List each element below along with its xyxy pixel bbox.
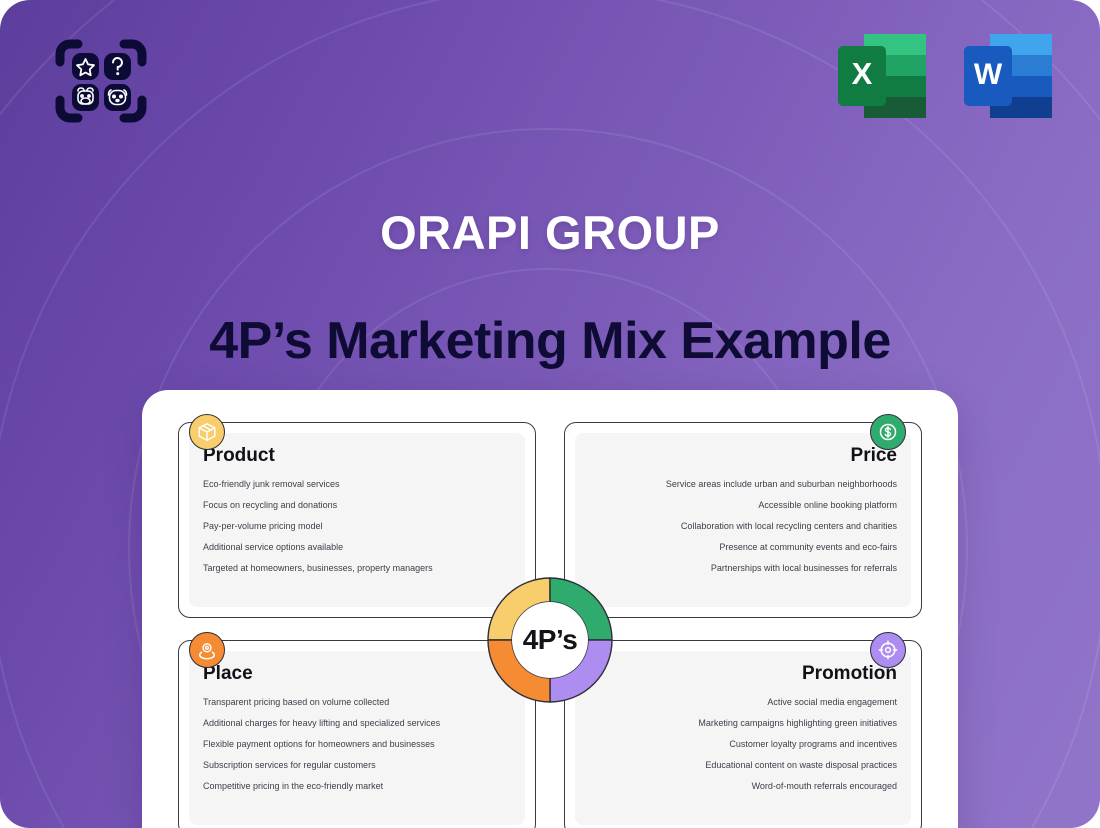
donut-chart: 4P’s xyxy=(472,562,628,718)
list-item: Active social media engagement xyxy=(589,698,897,707)
list-item: Additional charges for heavy lifting and… xyxy=(203,719,511,728)
list-item: Additional service options available xyxy=(203,543,511,552)
quadrant-place-title: Place xyxy=(203,663,511,685)
dollar-coin-icon[interactable] xyxy=(870,414,906,450)
quadrant-promotion-title: Promotion xyxy=(589,663,897,685)
list-item: Targeted at homeowners, businesses, prop… xyxy=(203,564,511,573)
brand-title: ORAPI GROUP xyxy=(0,205,1100,260)
list-item: Focus on recycling and donations xyxy=(203,501,511,510)
list-item: Subscription services for regular custom… xyxy=(203,761,511,770)
svg-text:W: W xyxy=(974,58,1003,91)
excel-icon[interactable]: X xyxy=(832,28,932,124)
quadrant-place-list: Transparent pricing based on volume coll… xyxy=(203,698,511,791)
quadrant-promotion-list: Active social media engagement Marketing… xyxy=(589,698,897,791)
list-item: Flexible payment options for homeowners … xyxy=(203,740,511,749)
office-icons: X W xyxy=(832,28,1058,124)
quadrant-product-list: Eco-friendly junk removal services Focus… xyxy=(203,480,511,573)
word-icon[interactable]: W xyxy=(958,28,1058,124)
list-item: Collaboration with local recycling cente… xyxy=(589,522,897,531)
slide-canvas: X W ORAPI GROUP 4P’s Marketing Mix Examp… xyxy=(0,0,1100,828)
quadrant-price-title: Price xyxy=(589,445,897,467)
list-item: Presence at community events and eco-fai… xyxy=(589,543,897,552)
list-item: Accessible online booking platform xyxy=(589,501,897,510)
package-box-icon[interactable] xyxy=(189,414,225,450)
list-item: Service areas include urban and suburban… xyxy=(589,480,897,489)
list-item: Pay-per-volume pricing model xyxy=(203,522,511,531)
list-item: Partnerships with local businesses for r… xyxy=(589,564,897,573)
list-item: Word-of-mouth referrals encouraged xyxy=(589,782,897,791)
list-item: Customer loyalty programs and incentives xyxy=(589,740,897,749)
quadrant-price-list: Service areas include urban and suburban… xyxy=(589,480,897,573)
list-item: Transparent pricing based on volume coll… xyxy=(203,698,511,707)
list-item: Marketing campaigns highlighting green i… xyxy=(589,719,897,728)
page-title: 4P’s Marketing Mix Example xyxy=(0,311,1100,371)
quadrant-product-title: Product xyxy=(203,445,511,467)
donut-hole xyxy=(512,602,588,678)
purple-background: X W ORAPI GROUP 4P’s Marketing Mix Examp… xyxy=(0,0,1100,828)
list-item: Eco-friendly junk removal services xyxy=(203,480,511,489)
list-item: Competitive pricing in the eco-friendly … xyxy=(203,782,511,791)
list-item: Educational content on waste disposal pr… xyxy=(589,761,897,770)
scan-pets-icon xyxy=(48,28,154,134)
location-pin-icon[interactable] xyxy=(189,632,225,668)
svg-text:X: X xyxy=(852,56,873,91)
target-crosshair-icon[interactable] xyxy=(870,632,906,668)
